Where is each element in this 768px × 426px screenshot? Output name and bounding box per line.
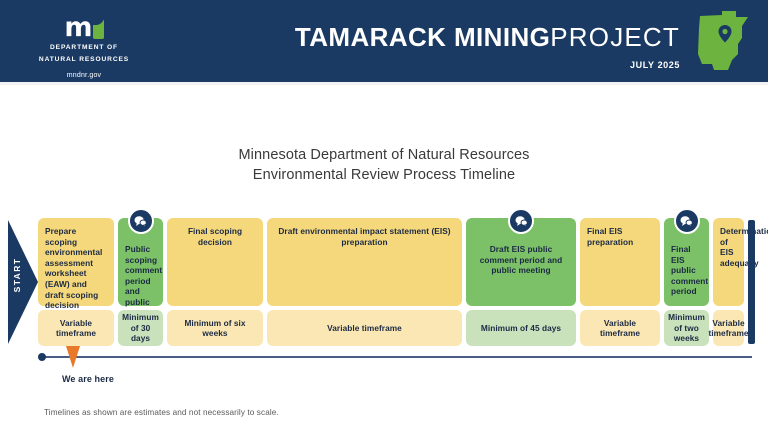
we-are-here-label: We are here (62, 374, 114, 384)
timeline-step-2: Public scoping comment period and public… (118, 218, 163, 346)
duration-box-8: Variable timeframe (713, 310, 744, 346)
duration-label: Minimum of two weeks (668, 312, 705, 343)
duration-label: Variable timeframe (708, 318, 748, 339)
phase-label: Final EIS public comment period (671, 244, 702, 297)
timeline-step-6: Final EIS preparationVariable timeframe (580, 218, 660, 346)
duration-label: Minimum of 30 days (122, 312, 159, 343)
duration-box-6: Variable timeframe (580, 310, 660, 346)
phase-label: Draft environmental impact statement (EI… (274, 226, 455, 247)
dnr-logo: m DEPARTMENT OF NATURAL RESOURCES mndnr.… (24, 12, 144, 79)
duration-box-2: Minimum of 30 days (118, 310, 163, 346)
axis-line (40, 356, 752, 358)
title-project-name: TAMARACK MINING (295, 22, 550, 52)
phase-label: Final scoping decision (174, 226, 256, 247)
timeline-step-8: Determination of EIS adequacyVariable ti… (713, 218, 744, 346)
phase-box-7: Final EIS public comment period (664, 218, 709, 306)
timeline-step-3: Final scoping decisionMinimum of six wee… (167, 218, 263, 346)
header-divider (0, 82, 768, 85)
timeline-step-7: Final EIS public comment periodMinimum o… (664, 218, 709, 346)
timeline-step-1: Prepare scoping environmental assessment… (38, 218, 114, 346)
logo-website-url: mndnr.gov (24, 72, 144, 79)
timeline-step-4: Draft environmental impact statement (EI… (267, 218, 462, 346)
phase-box-3: Final scoping decision (167, 218, 263, 306)
page-title: TAMARACK MININGPROJECT (295, 22, 680, 57)
axis-start-dot (38, 353, 46, 361)
phase-label: Public scoping comment period and public… (125, 244, 156, 318)
logo-department-line2: NATURAL RESOURCES (24, 56, 144, 64)
timeline-track: Prepare scoping environmental assessment… (38, 218, 744, 346)
footnote-disclaimer: Timelines as shown are estimates and not… (44, 408, 279, 417)
page-subtitle: Minnesota Department of Natural Resource… (0, 145, 768, 185)
logo-department-line1: DEPARTMENT OF (24, 44, 144, 52)
phase-box-2: Public scoping comment period and public… (118, 218, 163, 306)
duration-label: Variable timeframe (42, 318, 110, 339)
start-arrow-shape (8, 218, 42, 346)
timeline-axis: We are here (0, 352, 768, 366)
duration-box-7: Minimum of two weeks (664, 310, 709, 346)
page-root: m DEPARTMENT OF NATURAL RESOURCES mndnr.… (0, 0, 768, 426)
phase-label: Determination of EIS adequacy (720, 226, 737, 268)
we-are-here-marker-icon (66, 346, 80, 368)
duration-box-1: Variable timeframe (38, 310, 114, 346)
speech-bubbles-icon (128, 208, 154, 234)
speech-bubbles-icon (508, 208, 534, 234)
speech-bubbles-icon (674, 208, 700, 234)
duration-box-3: Minimum of six weeks (167, 310, 263, 346)
title-project-word: PROJECT (550, 22, 680, 52)
duration-label: Variable timeframe (327, 323, 402, 333)
timeline-step-5: Draft EIS public comment period and publ… (466, 218, 576, 346)
phase-box-1: Prepare scoping environmental assessment… (38, 218, 114, 306)
duration-label: Minimum of six weeks (171, 318, 259, 339)
phase-box-5: Draft EIS public comment period and publ… (466, 218, 576, 306)
page-header: m DEPARTMENT OF NATURAL RESOURCES mndnr.… (0, 0, 768, 82)
header-date: JULY 2025 (295, 60, 680, 70)
process-timeline: START Prepare scoping environmental asse… (0, 218, 768, 348)
phase-label: Draft EIS public comment period and publ… (473, 244, 569, 276)
duration-label: Minimum of 45 days (481, 323, 561, 333)
phase-box-6: Final EIS preparation (580, 218, 660, 306)
phase-box-4: Draft environmental impact statement (EI… (267, 218, 462, 306)
header-title-block: TAMARACK MININGPROJECT JULY 2025 (295, 22, 680, 70)
duration-box-5: Minimum of 45 days (466, 310, 576, 346)
phase-box-8: Determination of EIS adequacy (713, 218, 744, 306)
duration-box-4: Variable timeframe (267, 310, 462, 346)
logo-leaf-icon (93, 16, 104, 39)
minnesota-state-map-icon (692, 8, 754, 78)
subtitle-line-2: Environmental Review Process Timeline (0, 165, 768, 185)
logo-letter-m: m (64, 16, 91, 40)
dnr-logo-mark: m (24, 12, 144, 40)
phase-label: Final EIS preparation (587, 226, 653, 247)
phase-label: Prepare scoping environmental assessment… (45, 226, 107, 311)
subtitle-line-1: Minnesota Department of Natural Resource… (0, 145, 768, 165)
duration-label: Variable timeframe (584, 318, 656, 339)
timeline-end-bar (748, 220, 755, 344)
